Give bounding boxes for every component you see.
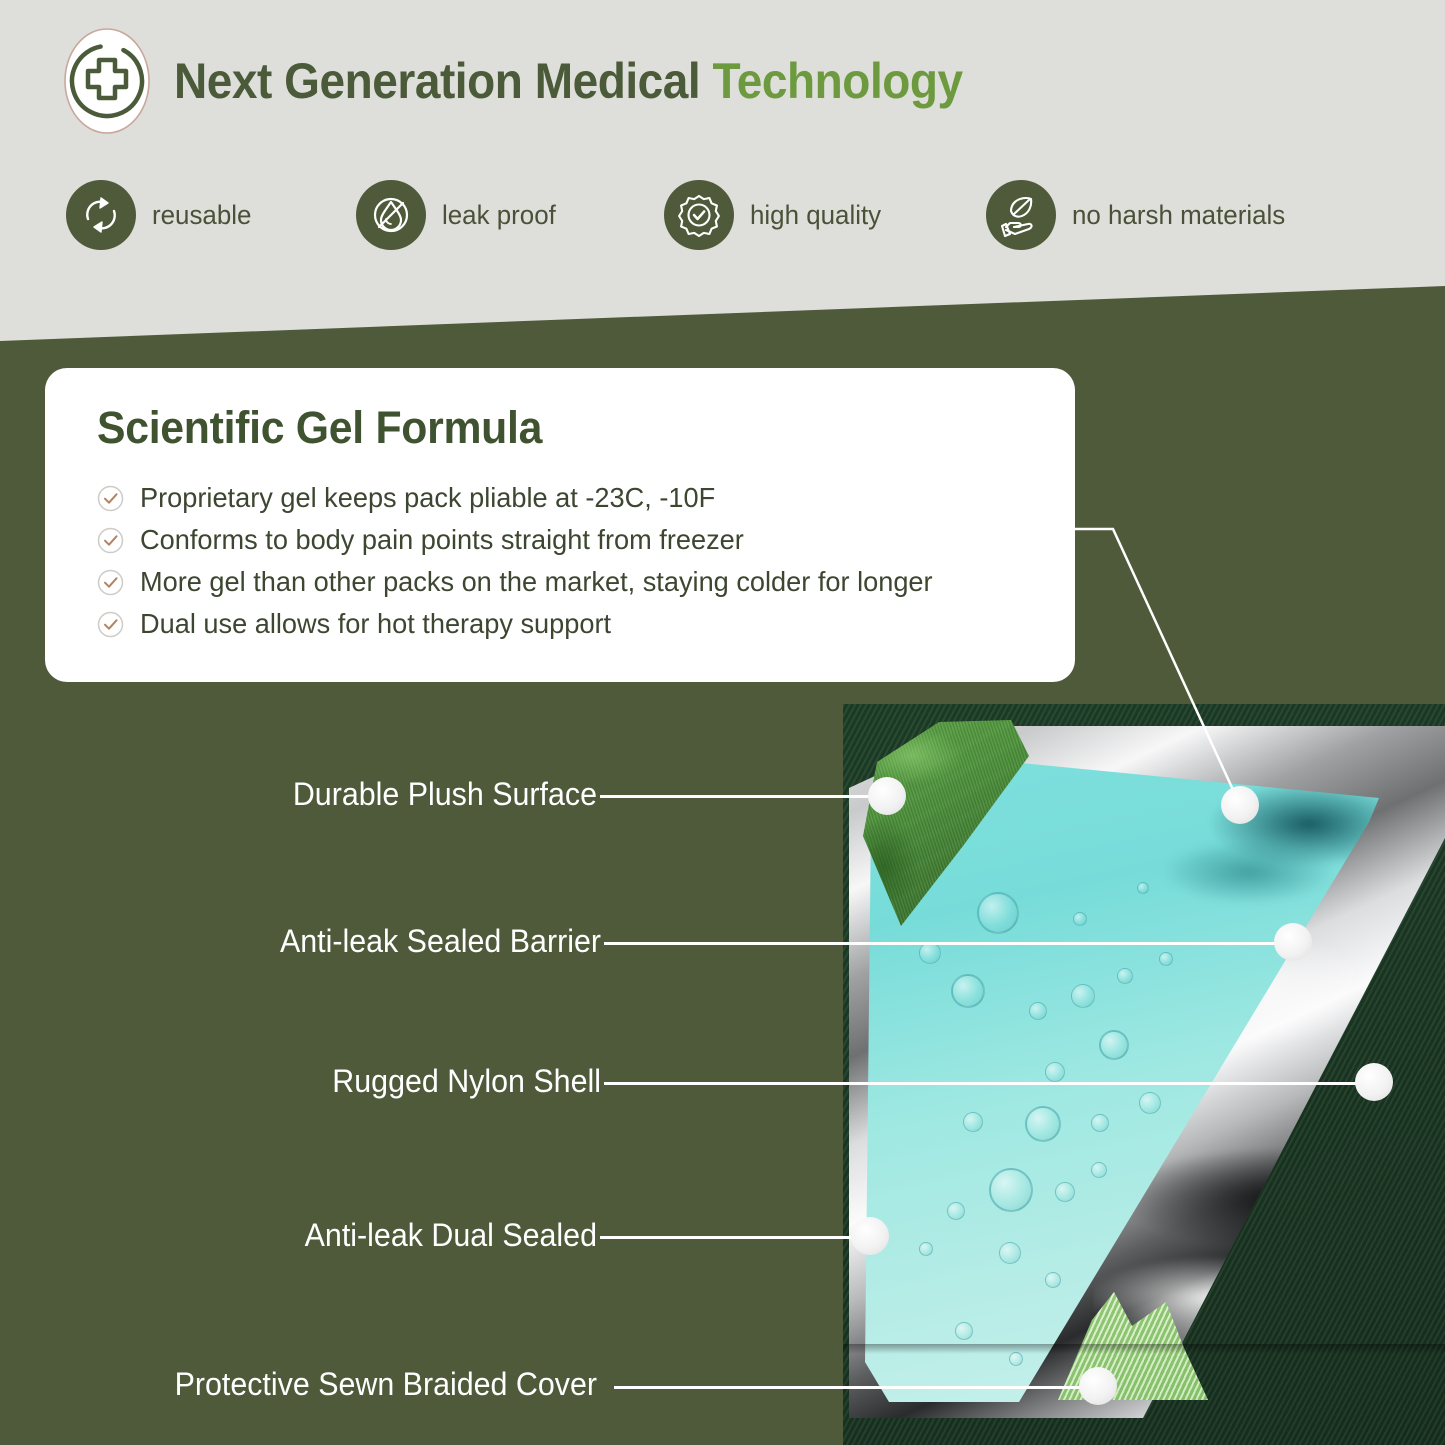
header-title-row: Next Generation Medical Technology xyxy=(62,26,1031,136)
gel-bubble xyxy=(1071,984,1095,1008)
product-cutaway-image xyxy=(843,704,1445,1445)
bullet-text: Dual use allows for hot therapy support xyxy=(140,610,611,638)
gel-bubble xyxy=(1073,912,1087,926)
feature-high-quality: high quality xyxy=(664,180,887,250)
gel-bubble xyxy=(963,1112,983,1132)
shell-seam-shadow xyxy=(843,1344,1445,1354)
gel-bubble xyxy=(1091,1114,1109,1132)
feature-leak-proof: leak proof xyxy=(356,180,561,250)
badge-check-icon xyxy=(664,180,734,250)
callout-label-plush-surface: Durable Plush Surface xyxy=(30,778,597,810)
no-water-drop-icon xyxy=(356,180,426,250)
card-title: Scientific Gel Formula xyxy=(97,402,988,454)
feature-reusable: reusable xyxy=(66,180,256,250)
feature-label: reusable xyxy=(152,200,251,231)
gel-bubble xyxy=(1009,1352,1023,1366)
gel-bubble xyxy=(989,1168,1033,1212)
gel-bubble xyxy=(1139,1092,1161,1114)
header-band: Next Generation Medical Technology reusa… xyxy=(0,0,1445,345)
callout-label-dual-sealed: Anti-leak Dual Sealed xyxy=(30,1219,597,1251)
card-bullet-list: Proprietary gel keeps pack pliable at -2… xyxy=(97,484,1035,638)
list-item: Dual use allows for hot therapy support xyxy=(97,610,1035,638)
gel-bubble xyxy=(1025,1106,1061,1142)
gel-bubble xyxy=(1045,1272,1061,1288)
gel-bubble xyxy=(1029,1002,1047,1020)
callout-label-braided-cover: Protective Sewn Braided Cover xyxy=(30,1368,597,1400)
check-circle-icon xyxy=(97,527,124,554)
feature-label: leak proof xyxy=(442,200,556,231)
check-circle-icon xyxy=(97,569,124,596)
feature-label: no harsh materials xyxy=(1072,200,1285,231)
callout-leader-dual-sealed xyxy=(600,1236,883,1239)
gel-bubble xyxy=(1055,1182,1075,1202)
feature-label: high quality xyxy=(750,200,881,231)
recycle-icon xyxy=(66,180,136,250)
gel-bubble xyxy=(947,1202,965,1220)
gel-bubble xyxy=(1045,1062,1065,1082)
hand-leaf-icon xyxy=(986,180,1056,250)
gel-bubble xyxy=(1159,952,1173,966)
callout-label-nylon-shell: Rugged Nylon Shell xyxy=(30,1065,601,1097)
check-circle-icon xyxy=(97,611,124,638)
gel-bubble xyxy=(1091,1162,1107,1178)
page-title-accent: Technology xyxy=(713,53,963,109)
list-item: Conforms to body pain points straight fr… xyxy=(97,526,1035,554)
page-title: Next Generation Medical Technology xyxy=(174,56,963,106)
page-title-primary: Next Generation Medical xyxy=(174,53,713,109)
gel-bubble xyxy=(919,942,941,964)
feature-badge-row: reusable leak proof xyxy=(66,176,1386,254)
list-item: Proprietary gel keeps pack pliable at -2… xyxy=(97,484,1035,512)
bullet-text: Conforms to body pain points straight fr… xyxy=(140,526,744,554)
gel-bubble xyxy=(999,1242,1021,1264)
feature-no-harsh-materials: no harsh materials xyxy=(986,180,1294,250)
gel-bubble xyxy=(1117,968,1133,984)
medical-cross-icon xyxy=(62,27,152,135)
check-circle-icon xyxy=(97,485,124,512)
scientific-gel-formula-card: Scientific Gel Formula Proprietary gel k… xyxy=(45,368,1075,682)
gel-bubble xyxy=(919,1242,933,1256)
gel-bubble xyxy=(951,974,985,1008)
infographic-canvas: Next Generation Medical Technology reusa… xyxy=(0,0,1445,1445)
list-item: More gel than other packs on the market,… xyxy=(97,568,1035,596)
gel-bubble xyxy=(955,1322,973,1340)
gel-bubble xyxy=(977,892,1019,934)
callout-label-sealed-barrier: Anti-leak Sealed Barrier xyxy=(30,925,601,957)
gel-bubble xyxy=(1099,1030,1129,1060)
bullet-text: Proprietary gel keeps pack pliable at -2… xyxy=(140,484,715,512)
bullet-text: More gel than other packs on the market,… xyxy=(140,568,933,596)
gel-bubble xyxy=(1137,882,1149,894)
